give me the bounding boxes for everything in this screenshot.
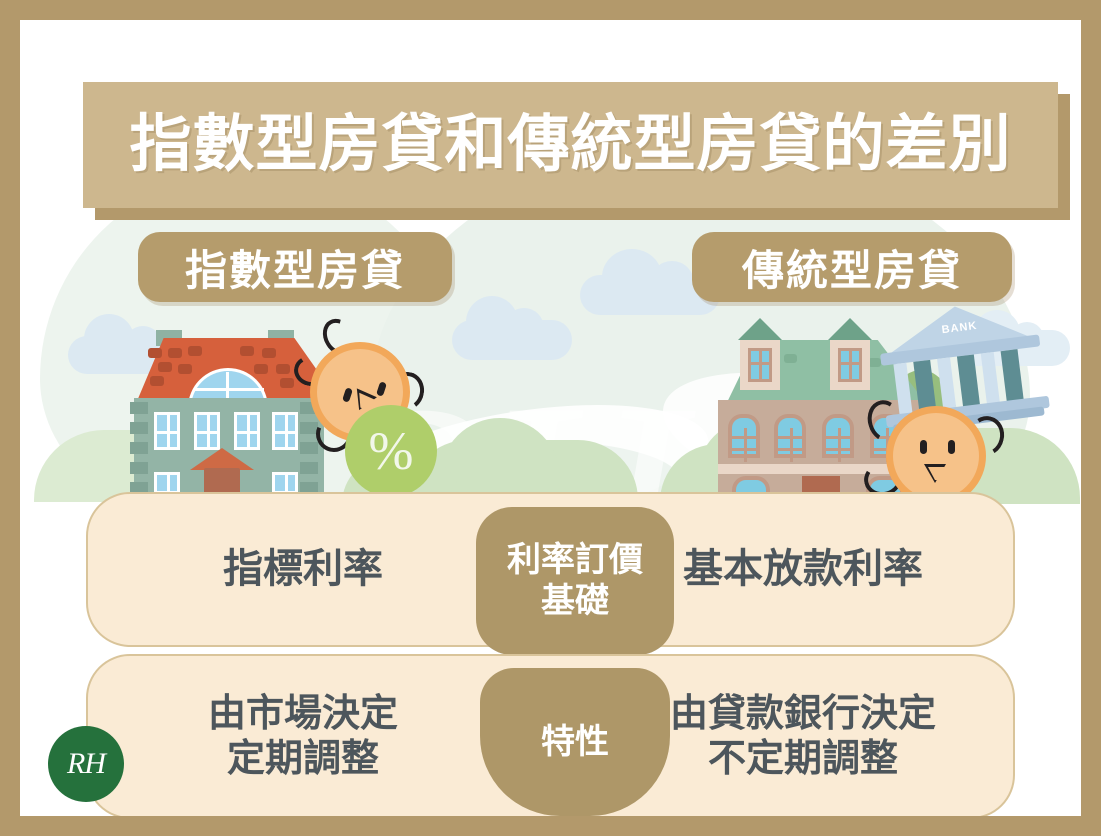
row1-badge-line2: 基礎: [507, 581, 643, 622]
row2-category-badge: 特性: [480, 668, 670, 816]
title-banner: 指數型房貸和傳統型房貸的差別: [83, 82, 1058, 208]
roof-tile: [276, 364, 290, 374]
roof-tile: [150, 376, 164, 386]
row2-right-value: 由貸款銀行決定 不定期調整: [628, 656, 978, 816]
roof-tile: [240, 346, 254, 356]
bank-column: [981, 352, 1000, 405]
row2-right-line2: 不定期調整: [670, 737, 936, 782]
dormer-mullion: [838, 362, 862, 365]
poster-inner-canvas: RH 指數型房貸和傳統型房貸的差別 指數型房貸 傳統型房貸: [20, 20, 1081, 816]
column-header-indexed-mortgage: 指數型房貸: [138, 232, 452, 302]
row1-left-value: 指標利率: [128, 494, 478, 645]
percent-symbol: %: [369, 424, 414, 478]
roof-tile: [158, 362, 172, 372]
roof-tile: [168, 348, 182, 358]
column-header-left-label: 指數型房貸: [185, 237, 405, 298]
quoin-shape: [300, 462, 318, 474]
row1-badge-line1: 利率訂價: [507, 540, 643, 581]
quoin-shape: [130, 442, 148, 454]
page-title: 指數型房貸和傳統型房貸的差別: [129, 114, 1011, 176]
roof-tile: [178, 364, 192, 374]
coin-eye-left: [920, 440, 927, 454]
window-icon: [272, 412, 298, 450]
window-icon: [194, 412, 220, 450]
row1-right-value: 基本放款利率: [628, 494, 978, 645]
coin-body: [886, 406, 986, 506]
roof-tile: [262, 348, 276, 358]
coin-eye-right: [948, 440, 955, 454]
window-icon: [154, 412, 180, 450]
infographic-poster: RH 指數型房貸和傳統型房貸的差別 指數型房貸 傳統型房貸: [0, 0, 1101, 836]
cloud-icon: [452, 320, 572, 360]
row2-left-line2: 定期調整: [208, 737, 398, 782]
brand-logo: RH: [48, 726, 124, 802]
row2-left-value: 由市場決定 定期調整: [128, 656, 478, 816]
row2-badge-line1: 特性: [541, 722, 609, 763]
brand-logo-text: RH: [67, 747, 105, 781]
dormer-mullion: [748, 362, 772, 365]
porch-roof: [190, 448, 254, 470]
percent-circle: %: [345, 405, 437, 497]
dormer-mullion: [759, 348, 762, 382]
bank-column: [937, 357, 956, 410]
bank-column: [957, 354, 980, 408]
roof-tile: [188, 346, 202, 356]
roof-tile: [280, 378, 294, 388]
roof-tile: [148, 348, 162, 358]
arched-window-icon: [774, 414, 806, 458]
coin-mouth: [924, 464, 946, 483]
column-header-traditional-mortgage: 傳統型房貸: [692, 232, 1012, 302]
quoin-shape: [130, 402, 148, 414]
window-icon: [234, 412, 260, 450]
dormer-mullion: [849, 348, 852, 382]
column-header-right-label: 傳統型房貸: [742, 237, 962, 298]
roof-tile: [254, 364, 268, 374]
row2-right-line1: 由貸款銀行決定: [670, 692, 936, 737]
arch-mullion: [194, 388, 264, 391]
roof-tile: [784, 354, 797, 363]
bank-column: [1001, 349, 1024, 403]
row2-left-line1: 由市場決定: [208, 692, 398, 737]
quoin-shape: [130, 422, 148, 434]
dormer-roof: [828, 318, 872, 340]
arched-window-icon: [822, 414, 854, 458]
dormer-roof: [738, 318, 782, 340]
row1-category-badge: 利率訂價 基礎: [476, 507, 674, 655]
arched-window-icon: [728, 414, 760, 458]
quoin-shape: [130, 462, 148, 474]
